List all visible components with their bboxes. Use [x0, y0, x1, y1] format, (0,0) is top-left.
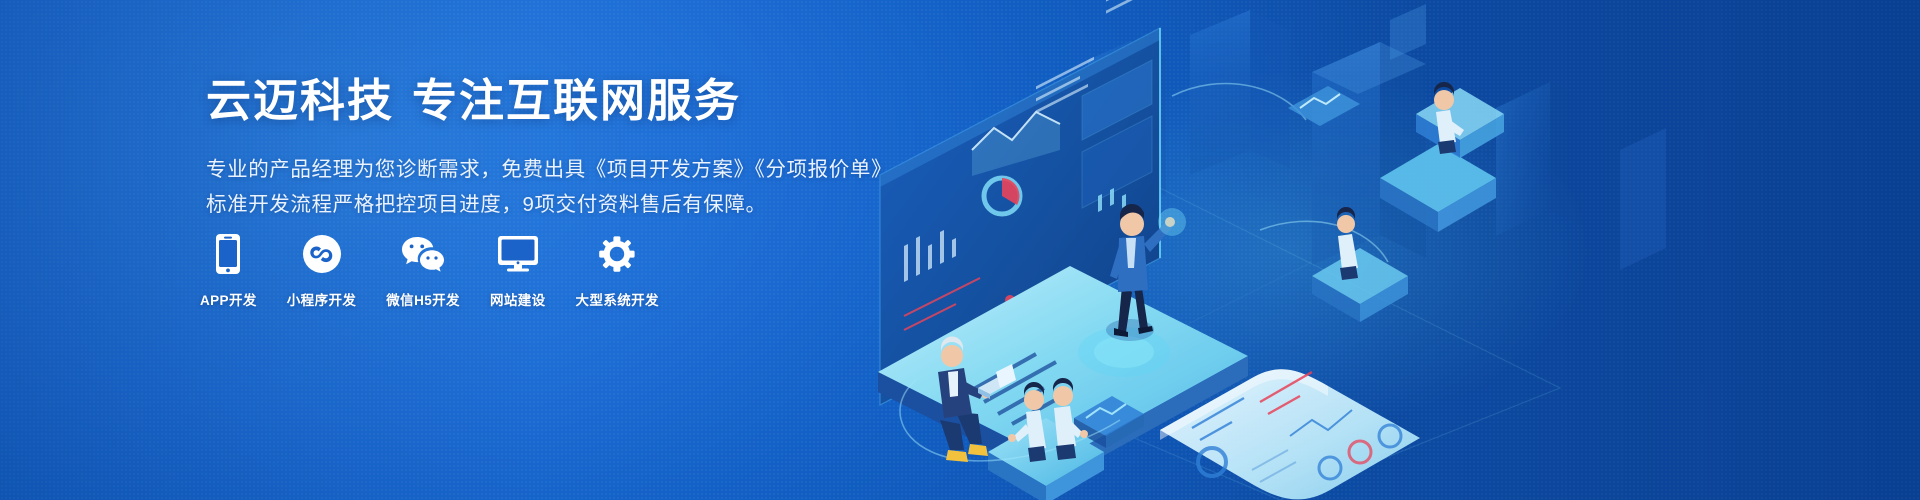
mobile-phone-icon [215, 232, 241, 276]
service-label: 网站建设 [490, 289, 546, 309]
banner-copy: 云迈科技专注互联网服务 专业的产品经理为您诊断需求，免费出具《项目开发方案》《分… [206, 74, 926, 222]
service-item-large-system[interactable]: 大型系统开发 [576, 232, 659, 309]
service-item-app[interactable]: APP开发 [200, 232, 257, 309]
service-item-website[interactable]: 网站建设 [490, 232, 546, 309]
service-label: APP开发 [200, 289, 257, 309]
isometric-illustration [860, 0, 1920, 500]
service-item-wechat-h5[interactable]: 微信H5开发 [386, 232, 460, 309]
wechat-icon [400, 232, 446, 276]
service-item-miniprogram[interactable]: 小程序开发 [287, 232, 357, 309]
monitor-icon [497, 232, 539, 276]
subtitle-line-1: 专业的产品经理为您诊断需求，免费出具《项目开发方案》《分项报价单》 [206, 153, 926, 186]
service-label: 大型系统开发 [576, 289, 659, 309]
gear-icon [597, 232, 637, 276]
touch-glow [1158, 208, 1186, 236]
service-icon-row: APP开发 小程序开发 微信 [200, 232, 659, 309]
service-label: 小程序开发 [287, 289, 357, 309]
subtitle-line-2: 标准开发流程严格把控项目进度，9项交付资料售后有保障。 [206, 188, 926, 221]
headline-brand: 云迈科技 [206, 75, 394, 126]
page-title: 云迈科技专注互联网服务 [206, 74, 926, 127]
promo-banner: 云迈科技专注互联网服务 专业的产品经理为您诊断需求，免费出具《项目开发方案》《分… [0, 0, 1920, 500]
mini-program-icon [302, 232, 342, 276]
headline-tagline: 专注互联网服务 [412, 75, 741, 126]
service-label: 微信H5开发 [386, 289, 460, 309]
